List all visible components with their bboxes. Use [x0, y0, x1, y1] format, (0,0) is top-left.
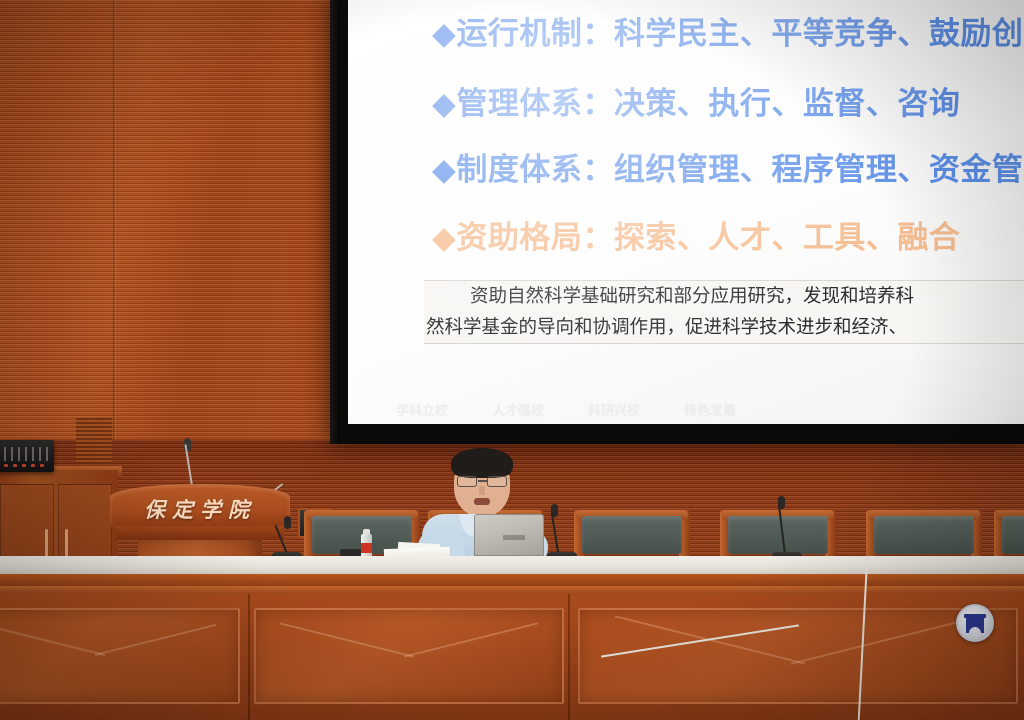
- cabinet-handle-left: [45, 529, 48, 557]
- chair: [570, 506, 694, 560]
- slide-bullet-2-text: ◆管理体系：决策、执行、监督、咨询: [432, 86, 960, 122]
- slide-footer-word-3: 科研兴校: [588, 400, 640, 419]
- table-top: [0, 556, 1024, 576]
- projection-screen-frame: ◆运行机制：科学民主、平等竞争、鼓励创新 ◆管理体系：决策、执行、监督、咨询 ◆…: [330, 0, 1024, 444]
- slide-footer-word-1: 学科立校: [396, 400, 448, 419]
- table-panel: [578, 608, 1018, 704]
- presentation-slide: ◆运行机制：科学民主、平等竞争、鼓励创新 ◆管理体系：决策、执行、监督、咨询 ◆…: [348, 0, 1024, 424]
- conference-hall-photo: ◆运行机制：科学民主、平等竞争、鼓励创新 ◆管理体系：决策、执行、监督、咨询 ◆…: [0, 0, 1024, 720]
- slide-footer-word-4: 特色发展: [684, 400, 736, 419]
- slide-bullet-1-text: ◆运行机制：科学民主、平等竞争、鼓励创新: [432, 16, 1024, 52]
- slide-bullet-4-text: ◆资助格局：探索、人才、工具、融合: [432, 220, 960, 256]
- audio-mixer: [0, 440, 54, 472]
- slide-paragraph-line-2: 然科学基金的导向和协调作用，促进科学技术进步和经济、: [424, 312, 1024, 343]
- slide-bullet-1: ◆运行机制：科学民主、平等竞争、鼓励创新: [432, 8, 1024, 53]
- slide-paragraph-box: 资助自然科学基础研究和部分应用研究，发现和培养科 然科学基金的导向和协调作用，促…: [424, 280, 1024, 344]
- podium-name-plate: 保定学院: [110, 494, 290, 524]
- laptop: [470, 514, 548, 560]
- slide-paragraph-line-1: 资助自然科学基础研究和部分应用研究，发现和培养科: [424, 281, 1024, 312]
- table-panel-seam: [568, 594, 570, 720]
- wall-vent-panel: [76, 418, 112, 464]
- chair: [862, 506, 986, 560]
- speaker-mouth: [474, 498, 490, 505]
- table-front-panel: [0, 594, 1024, 720]
- slide-footer-word-2: 人才强校: [492, 400, 544, 419]
- projection-screen: ◆运行机制：科学民主、平等竞争、鼓励创新 ◆管理体系：决策、执行、监督、咨询 ◆…: [348, 0, 1024, 424]
- slide-footer-watermarks: 学科立校 人才强校 科研兴校 特色发展: [396, 400, 996, 419]
- slide-bullet-4: ◆资助格局：探索、人才、工具、融合: [432, 212, 960, 257]
- slide-bullet-3-text: ◆制度体系：组织管理、程序管理、资金管理: [432, 152, 1024, 188]
- slide-bullet-3: ◆制度体系：组织管理、程序管理、资金管理: [432, 144, 1024, 189]
- speaker-nose: [479, 486, 485, 495]
- school-crest-icon: [956, 604, 994, 642]
- podium-lip: [116, 526, 284, 540]
- chair: [990, 506, 1024, 560]
- cabinet-handle-right: [65, 529, 68, 557]
- table-panel: [0, 608, 240, 704]
- table-panel: [254, 608, 564, 704]
- slide-bullet-2: ◆管理体系：决策、执行、监督、咨询: [432, 78, 960, 123]
- table-panel-seam: [248, 594, 250, 720]
